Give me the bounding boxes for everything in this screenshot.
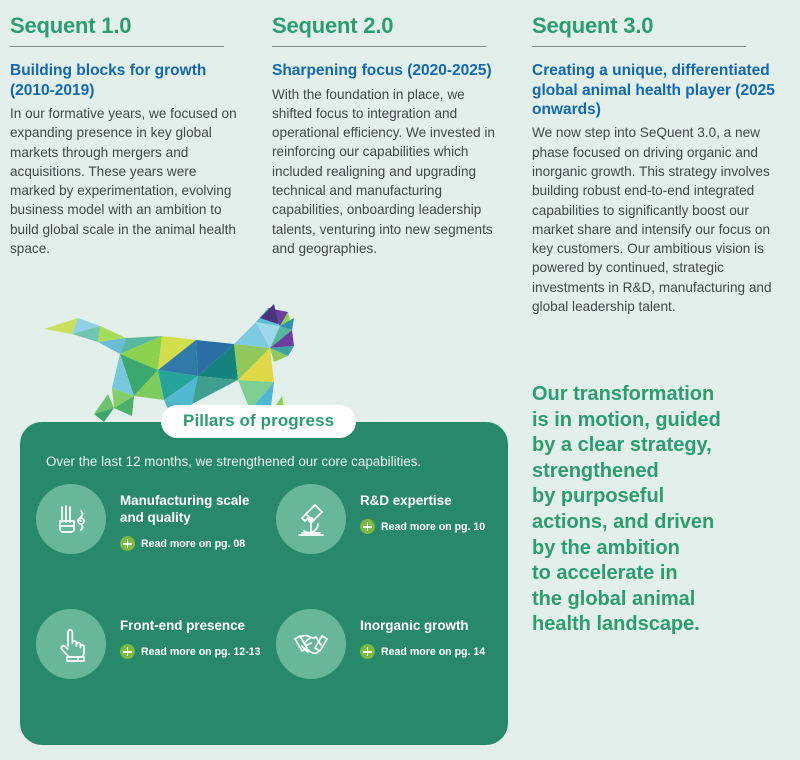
plus-icon: [120, 536, 135, 551]
plus-icon: [120, 644, 135, 659]
plus-icon: [360, 644, 375, 659]
pillar-label: Manufacturing scale and quality: [120, 492, 270, 526]
pillar-label: R&D expertise: [360, 492, 485, 509]
phase-title: Sequent 2.0: [272, 14, 504, 38]
read-more-label: Read more on pg. 14: [381, 646, 485, 658]
handshake-icon: [276, 609, 346, 679]
read-more-link[interactable]: Read more on pg. 08: [120, 536, 270, 551]
phase-title: Sequent 1.0: [10, 14, 242, 38]
pillars-card-title-pill: Pillars of progress: [161, 405, 356, 438]
pillars-card-lead: Over the last 12 months, we strengthened…: [46, 453, 476, 472]
pillar-text: Inorganic growth Read more on pg. 14: [360, 609, 485, 659]
phase-title: Sequent 3.0: [532, 14, 784, 38]
read-more-link[interactable]: Read more on pg. 10: [360, 519, 485, 534]
pillar-item[interactable]: R&D expertise Read more on pg. 10: [276, 484, 485, 554]
phase-body: In our formative years, we focused on ex…: [10, 104, 242, 258]
phase-subtitle: Building blocks for growth (2010-2019): [10, 61, 242, 100]
transformation-statement: Our transformation is in motion, guided …: [532, 382, 782, 638]
phase-subtitle: Creating a unique, differentiated global…: [532, 61, 784, 119]
infographic-page: Sequent 1.0 Building blocks for growth (…: [0, 0, 800, 760]
pillar-label: Front-end presence: [120, 617, 261, 634]
pillar-item[interactable]: Manufacturing scale and quality Read mor…: [36, 484, 270, 554]
read-more-link[interactable]: Read more on pg. 14: [360, 644, 485, 659]
beaker-test-tube-icon: [36, 484, 106, 554]
pillar-item[interactable]: Front-end presence Read more on pg. 12-1…: [36, 609, 261, 679]
pillar-text: R&D expertise Read more on pg. 10: [360, 484, 485, 534]
pillar-item[interactable]: Inorganic growth Read more on pg. 14: [276, 609, 485, 679]
read-more-label: Read more on pg. 08: [141, 538, 245, 550]
divider: [10, 46, 224, 47]
pillar-label: Inorganic growth: [360, 617, 485, 634]
divider: [272, 46, 486, 47]
divider: [532, 46, 746, 47]
phase-body: We now step into SeQuent 3.0, a new phas…: [532, 123, 784, 316]
pillar-text: Front-end presence Read more on pg. 12-1…: [120, 609, 261, 659]
plus-icon: [360, 519, 375, 534]
pointing-hand-icon: [36, 609, 106, 679]
phase-column-2: Sequent 2.0 Sharpening focus (2020-2025)…: [272, 14, 504, 258]
microscope-icon: [276, 484, 346, 554]
phase-body: With the foundation in place, we shifted…: [272, 85, 504, 259]
read-more-link[interactable]: Read more on pg. 12-13: [120, 644, 261, 659]
phase-column-1: Sequent 1.0 Building blocks for growth (…: [10, 14, 242, 258]
phase-column-3: Sequent 3.0 Creating a unique, different…: [532, 14, 784, 316]
read-more-label: Read more on pg. 10: [381, 521, 485, 533]
pillar-text: Manufacturing scale and quality Read mor…: [120, 484, 270, 551]
read-more-label: Read more on pg. 12-13: [141, 646, 261, 658]
phase-subtitle: Sharpening focus (2020-2025): [272, 61, 504, 80]
